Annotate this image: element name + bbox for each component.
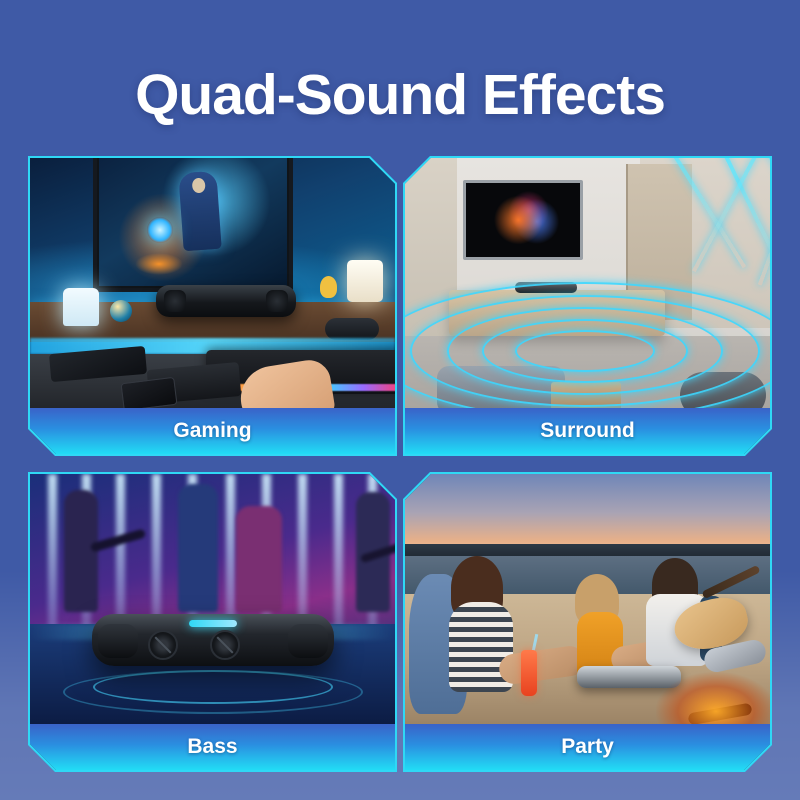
- card-label-surround: Surround: [405, 408, 770, 454]
- scene-gaming-desk-setup: [30, 158, 395, 408]
- feature-card-grid: Gaming: [30, 158, 770, 770]
- card-label-bass: Bass: [30, 724, 395, 770]
- portable-speaker-product: [92, 614, 334, 666]
- feature-card-gaming[interactable]: Gaming: [30, 158, 395, 454]
- bottle-icon: [521, 650, 537, 696]
- card-label-text: Bass: [187, 735, 237, 759]
- feature-card-party[interactable]: Party: [405, 474, 770, 770]
- scene-concert-stage-speaker: [30, 474, 395, 724]
- monitor-icon: [93, 158, 293, 292]
- card-label-party: Party: [405, 724, 770, 770]
- card-label-text: Gaming: [173, 419, 251, 443]
- phone-icon: [120, 377, 177, 408]
- feature-card-bass[interactable]: Bass: [30, 474, 395, 770]
- scene-living-room-tv-soundwaves: [405, 158, 770, 408]
- card-label-text: Surround: [540, 419, 635, 443]
- card-label-gaming: Gaming: [30, 408, 395, 454]
- campfire-icon: [656, 672, 770, 724]
- lamp-icon: [63, 288, 99, 326]
- scene-beach-sunset-friends: [405, 474, 770, 724]
- soundbar-product: [156, 285, 296, 317]
- card-label-text: Party: [561, 735, 614, 759]
- sound-wave-rings: [405, 276, 770, 408]
- page-title: Quad-Sound Effects: [0, 62, 800, 128]
- feature-card-surround[interactable]: Surround: [405, 158, 770, 454]
- lamp-icon: [347, 260, 383, 302]
